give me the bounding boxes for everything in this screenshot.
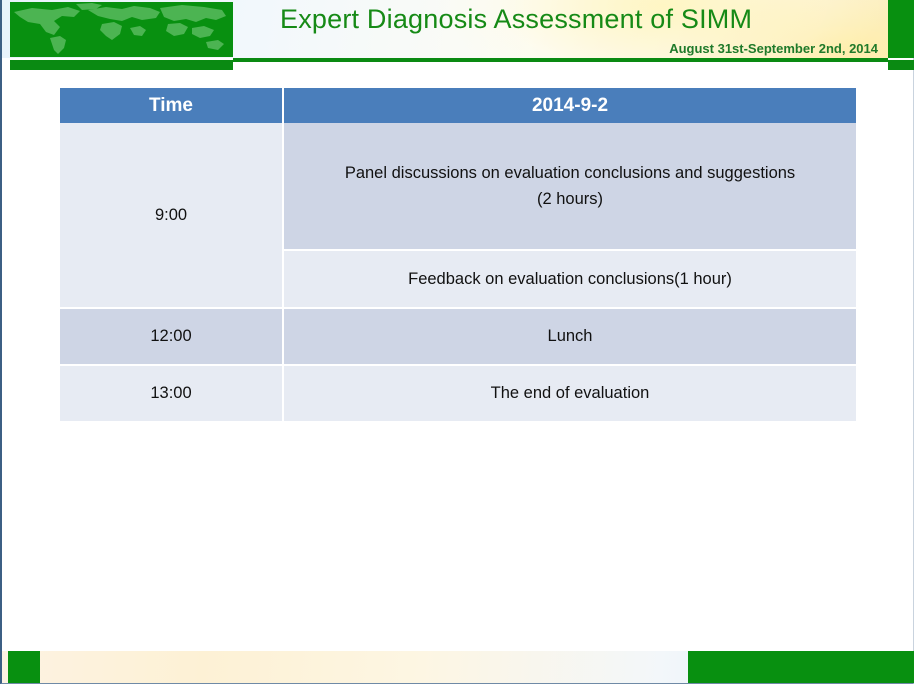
table-row: 9:00 Panel discussions on evaluation con… xyxy=(60,123,856,251)
banner-left-green-bar xyxy=(10,60,233,70)
schedule-table: Time 2014-9-2 9:00 Panel discussions on … xyxy=(60,88,856,423)
row-time-3: 13:00 xyxy=(60,366,284,423)
banner-date-range: August 31st-September 2nd, 2014 xyxy=(280,41,878,56)
row-item-0: Panel discussions on evaluation conclusi… xyxy=(284,123,856,251)
banner-right-green-block xyxy=(888,0,914,58)
column-header-date: 2014-9-2 xyxy=(284,88,856,123)
banner-right-green-bar xyxy=(888,60,914,70)
row-item-0-line-0: Panel discussions on evaluation conclusi… xyxy=(345,164,795,182)
table-header-row: Time 2014-9-2 xyxy=(60,88,856,123)
row-item-0-line-1: (2 hours) xyxy=(537,190,603,208)
table-row: 12:00 Lunch xyxy=(60,309,856,366)
world-map-icon xyxy=(10,2,233,57)
row-item-2: Lunch xyxy=(284,309,856,366)
row-time-2: 12:00 xyxy=(60,309,284,366)
table-row: 13:00 The end of evaluation xyxy=(60,366,856,423)
slide-banner: Expert Diagnosis Assessment of SIMM Augu… xyxy=(2,0,914,68)
banner-green-rule xyxy=(233,58,888,62)
row-item-3: The end of evaluation xyxy=(284,366,856,423)
footer-left-green-block xyxy=(8,651,40,683)
page-title: Expert Diagnosis Assessment of SIMM xyxy=(280,4,880,35)
row-time-0: 9:00 xyxy=(60,123,284,309)
slide-footer xyxy=(2,651,914,683)
slide-page: Expert Diagnosis Assessment of SIMM Augu… xyxy=(0,0,914,684)
footer-right-green-block xyxy=(688,651,914,683)
row-item-1: Feedback on evaluation conclusions(1 hou… xyxy=(284,251,856,309)
column-header-time: Time xyxy=(60,88,284,123)
